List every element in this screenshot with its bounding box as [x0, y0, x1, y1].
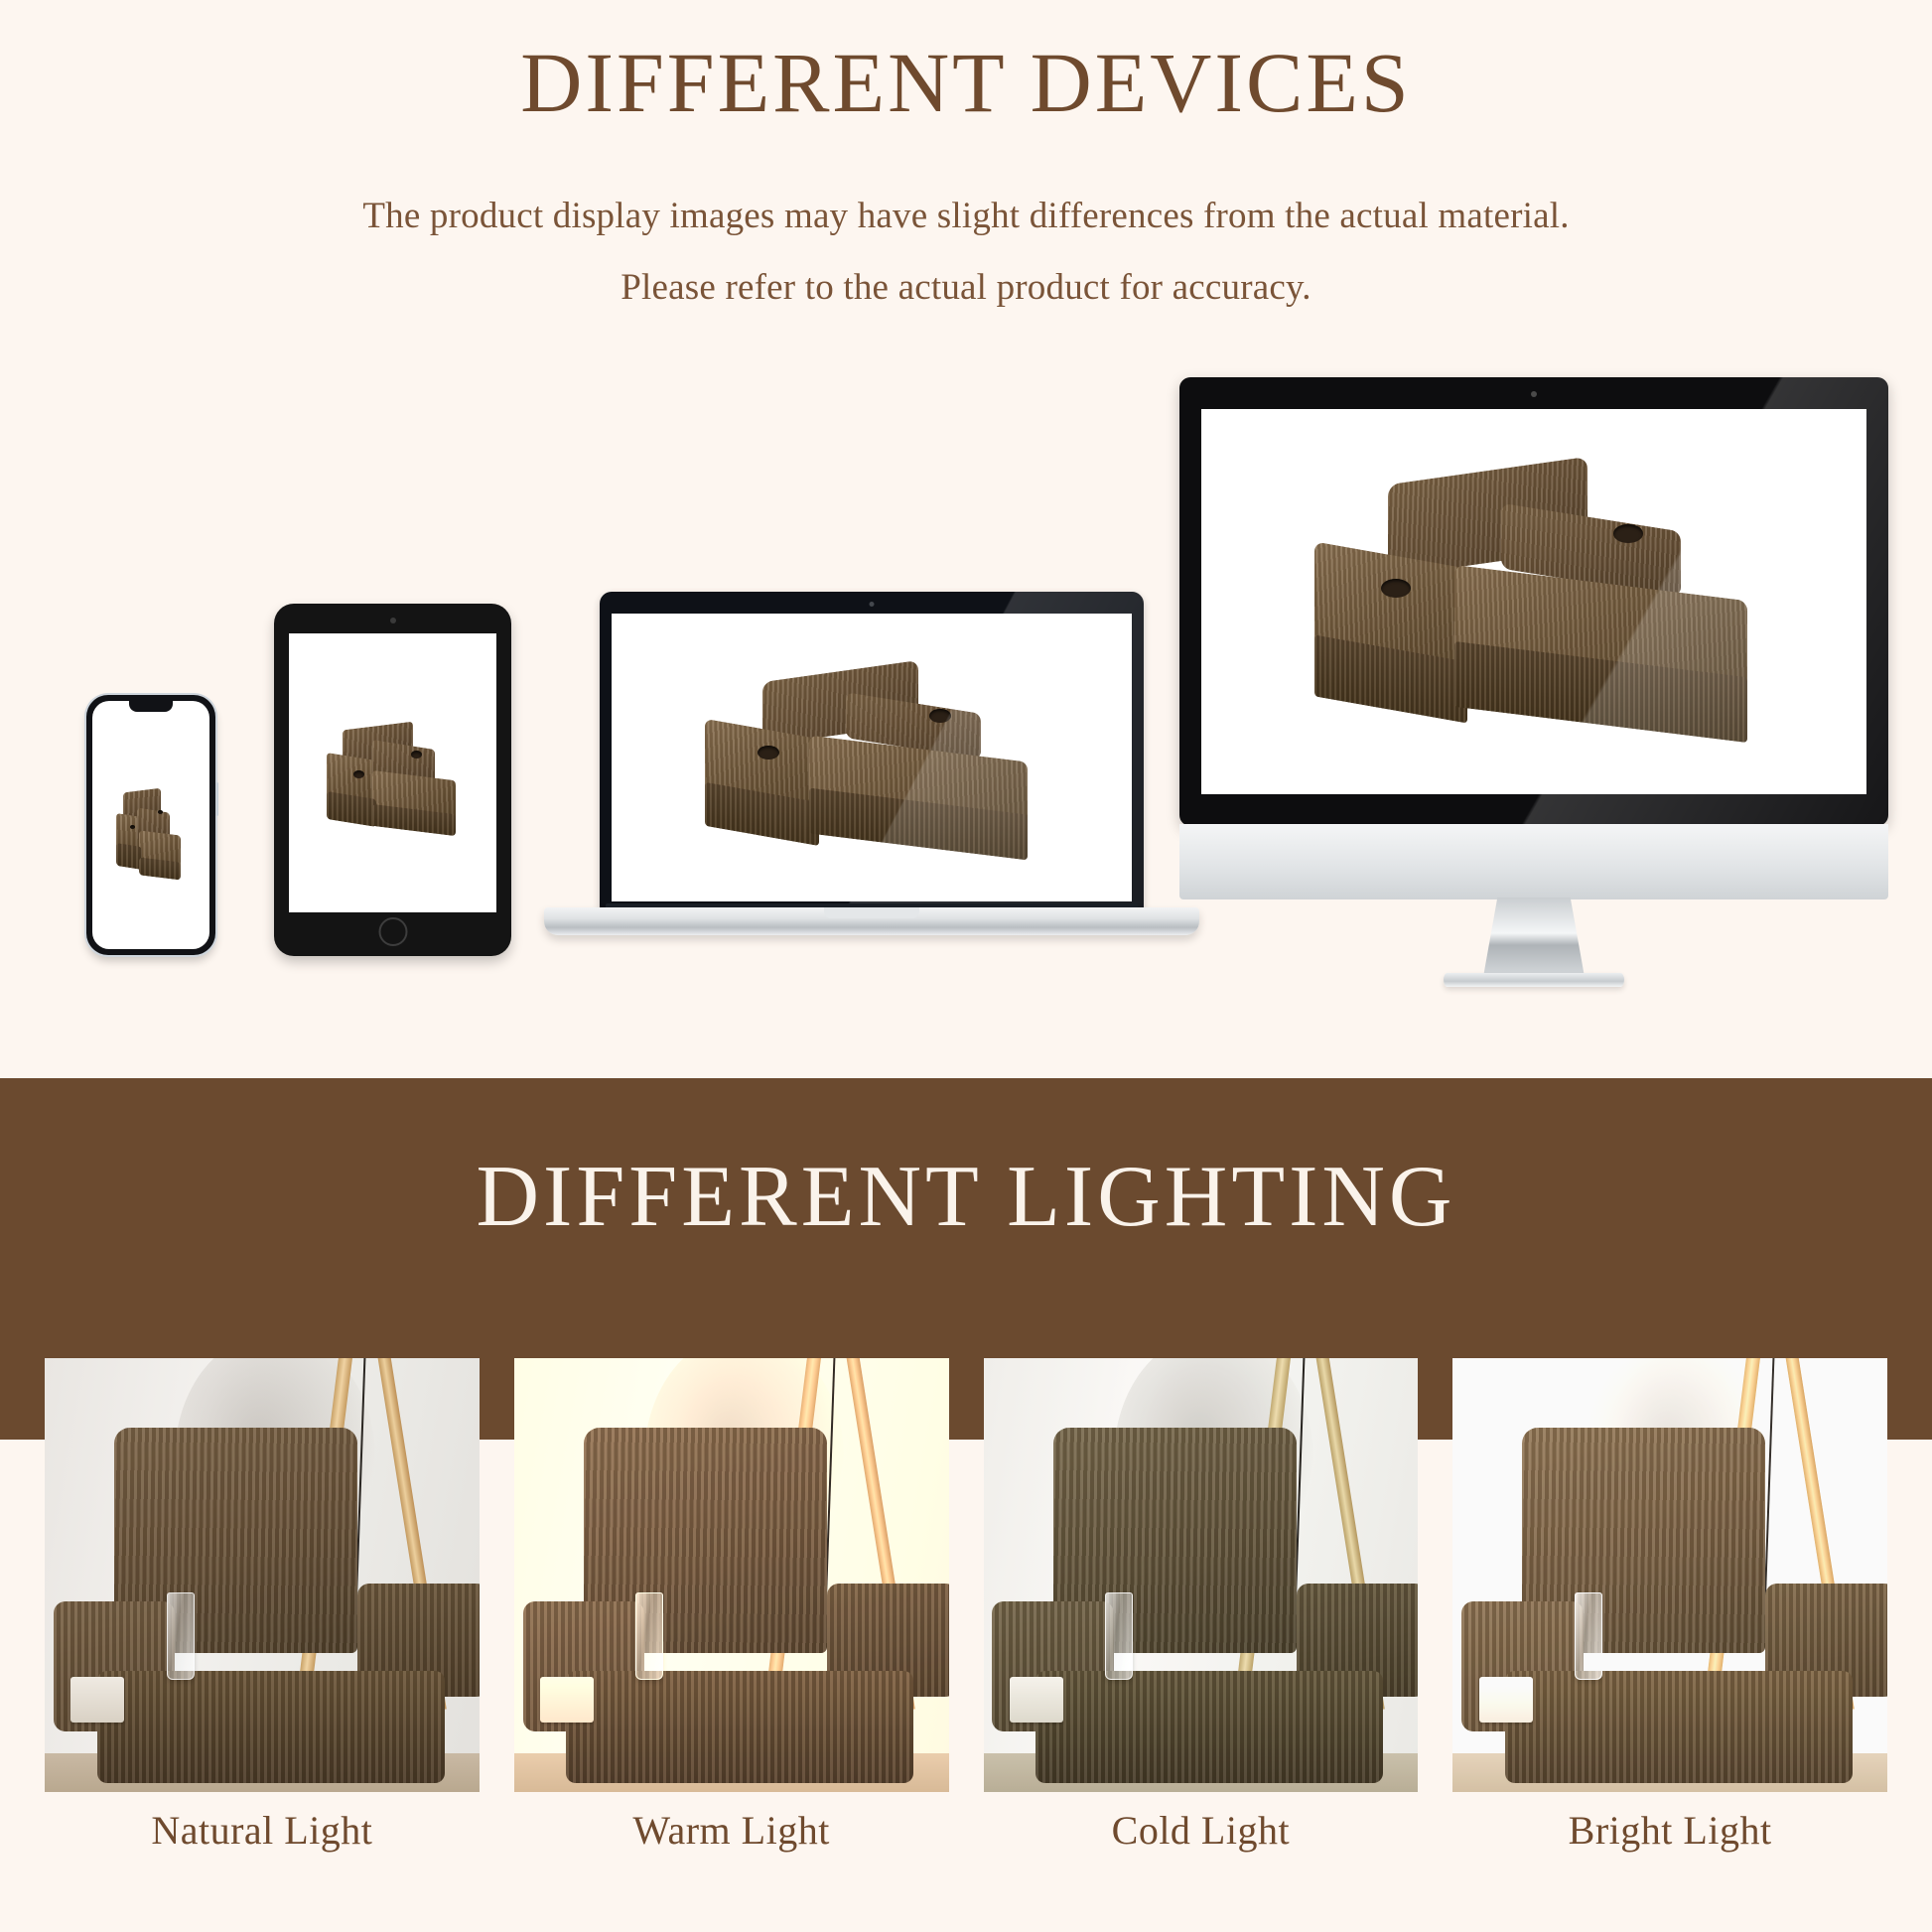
drinking-glass-icon	[167, 1592, 195, 1680]
different-devices-section: DIFFERENT DEVICES The product display im…	[0, 0, 1932, 1078]
product-image-laptop	[612, 614, 1132, 901]
lighting-photo-bright[interactable]	[1452, 1358, 1887, 1792]
laptop-mockup	[544, 592, 1199, 969]
product-image-tablet	[289, 633, 496, 912]
page-title-devices: DIFFERENT DEVICES	[0, 38, 1932, 127]
room-scene	[1452, 1358, 1887, 1792]
page-title-lighting: DIFFERENT LIGHTING	[0, 1152, 1932, 1243]
side-pocket	[540, 1677, 594, 1723]
monitor-stand-foot	[1444, 973, 1624, 987]
phone-side-button-icon	[215, 782, 218, 816]
product-image-monitor	[1201, 409, 1866, 794]
devices-subtitle-line-2: Please refer to the actual product for a…	[0, 252, 1932, 324]
devices-subtitle: The product display images may have slig…	[0, 181, 1932, 324]
monitor-camera-icon	[1531, 391, 1537, 397]
lighting-photo-warm[interactable]	[514, 1358, 949, 1792]
tablet-camera-icon	[390, 618, 396, 623]
lighting-labels-row: Natural Light Warm Light Cold Light Brig…	[45, 1807, 1887, 1854]
lighting-photo-natural[interactable]	[45, 1358, 480, 1792]
chair-seat	[1505, 1671, 1853, 1784]
room-scene	[984, 1358, 1419, 1792]
chair-seat	[97, 1671, 445, 1784]
phone-notch-icon	[129, 701, 173, 712]
monitor-bezel	[1179, 377, 1888, 826]
lighting-label-natural: Natural Light	[45, 1807, 480, 1854]
smartphone-mockup	[86, 695, 215, 955]
laptop-camera-icon	[870, 602, 875, 607]
devices-subtitle-line-1: The product display images may have slig…	[0, 181, 1932, 252]
lighting-label-cold: Cold Light	[984, 1807, 1419, 1854]
room-scene	[45, 1358, 480, 1792]
side-pocket	[1479, 1677, 1533, 1723]
chair-seat	[566, 1671, 913, 1784]
laptop-screen	[612, 614, 1132, 901]
laptop-lid	[600, 592, 1144, 911]
lighting-label-bright: Bright Light	[1452, 1807, 1887, 1854]
tablet-screen	[289, 633, 496, 912]
tablet-home-button-icon[interactable]	[378, 917, 407, 946]
laptop-trackpad-notch-icon	[824, 907, 919, 918]
drinking-glass-icon	[1575, 1592, 1602, 1680]
monitor-stand-neck	[1483, 897, 1585, 977]
lighting-label-warm: Warm Light	[514, 1807, 949, 1854]
side-pocket	[70, 1677, 124, 1723]
side-pocket	[1010, 1677, 1063, 1723]
drinking-glass-icon	[1105, 1592, 1133, 1680]
phone-screen	[92, 701, 209, 949]
product-image-phone	[92, 701, 209, 949]
tablet-mockup	[274, 604, 511, 956]
monitor-screen	[1201, 409, 1866, 794]
drinking-glass-icon	[635, 1592, 663, 1680]
lighting-photo-grid	[45, 1358, 1887, 1792]
monitor-chin	[1179, 824, 1888, 899]
lighting-photo-cold[interactable]	[984, 1358, 1419, 1792]
product-detail-page: DIFFERENT DEVICES The product display im…	[0, 0, 1932, 1932]
desktop-monitor-mockup	[1179, 377, 1888, 951]
chair-seat	[1035, 1671, 1383, 1784]
room-scene	[514, 1358, 949, 1792]
